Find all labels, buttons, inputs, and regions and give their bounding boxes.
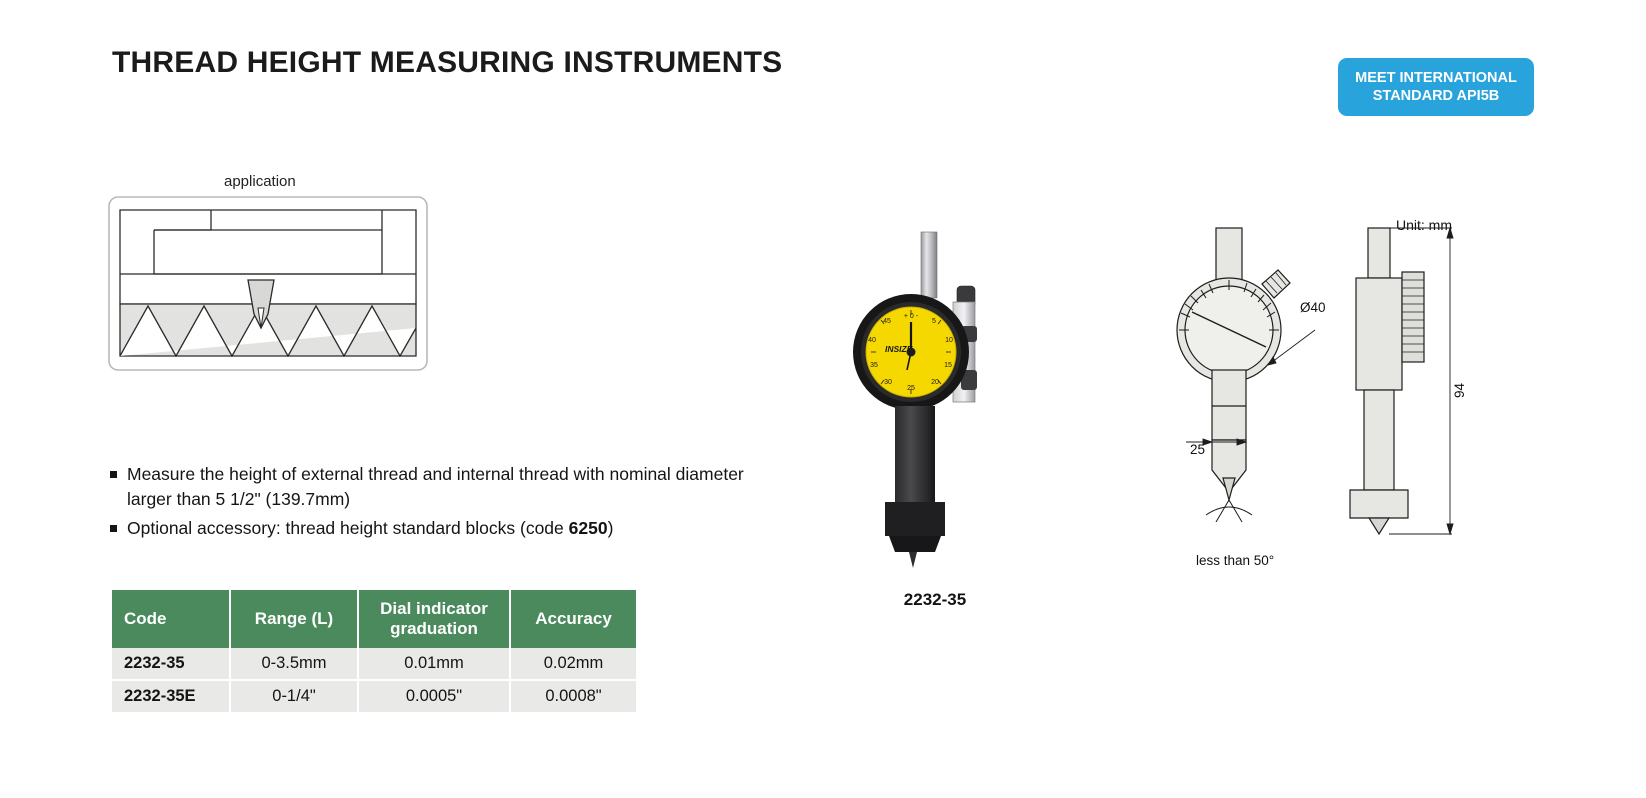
specification-table: Code Range (L) Dial indicator graduation…	[112, 590, 636, 712]
cell-range: 0-3.5mm	[230, 648, 358, 680]
square-bullet-icon	[110, 525, 117, 532]
column-header-graduation: Dial indicator graduation	[358, 590, 510, 648]
table-row: 2232-35E 0-1/4" 0.0005" 0.0008"	[112, 680, 636, 712]
svg-text:35: 35	[870, 362, 878, 369]
svg-text:30: 30	[884, 379, 892, 386]
technical-drawing	[1150, 210, 1490, 580]
cell-code: 2232-35E	[112, 680, 230, 712]
list-item: Optional accessory: thread height standa…	[110, 516, 750, 541]
cell-range: 0-1/4"	[230, 680, 358, 712]
feature-text-2-tail: )	[608, 518, 614, 538]
table-header-row: Code Range (L) Dial indicator graduation…	[112, 590, 636, 648]
dimension-length-25: 25	[1190, 442, 1205, 457]
dimension-diameter: Ø40	[1300, 300, 1326, 315]
badge-line-2: STANDARD API5B	[1373, 87, 1499, 105]
square-bullet-icon	[110, 471, 117, 478]
column-header-code: Code	[112, 590, 230, 648]
cell-accuracy: 0.02mm	[510, 648, 636, 680]
feature-list: Measure the height of external thread an…	[110, 462, 750, 545]
svg-text:45: 45	[883, 318, 891, 325]
svg-text:40: 40	[868, 337, 876, 344]
svg-text:15: 15	[944, 362, 952, 369]
feature-text-2-lead: Optional accessory: thread height standa…	[127, 518, 569, 538]
dimension-angle: less than 50°	[1196, 553, 1274, 568]
application-illustration	[108, 196, 428, 371]
column-header-range: Range (L)	[230, 590, 358, 648]
status-badge: MEET INTERNATIONAL STANDARD API5B	[1338, 58, 1534, 116]
cell-code: 2232-35	[112, 648, 230, 680]
list-item: Measure the height of external thread an…	[110, 462, 750, 512]
feature-text-2: Optional accessory: thread height standa…	[127, 516, 750, 541]
table-row: 2232-35 0-3.5mm 0.01mm 0.02mm	[112, 648, 636, 680]
column-header-accuracy: Accuracy	[510, 590, 636, 648]
product-photo: + 0 - 45 40 35 30 25 20 15 10 5 INSIZE	[845, 230, 1025, 575]
svg-text:5: 5	[932, 318, 936, 325]
dimension-height-94: 94	[1452, 383, 1467, 398]
accessory-code: 6250	[569, 518, 608, 538]
product-caption: 2232-35	[845, 590, 1025, 610]
cell-graduation: 0.01mm	[358, 648, 510, 680]
cell-graduation: 0.0005"	[358, 680, 510, 712]
catalog-page: THREAD HEIGHT MEASURING INSTRUMENTS MEET…	[0, 0, 1646, 798]
feature-text-1: Measure the height of external thread an…	[127, 462, 750, 512]
svg-text:10: 10	[945, 337, 953, 344]
application-caption: application	[224, 173, 296, 190]
svg-text:20: 20	[931, 379, 939, 386]
page-title: THREAD HEIGHT MEASURING INSTRUMENTS	[112, 46, 782, 80]
badge-line-1: MEET INTERNATIONAL	[1355, 69, 1517, 87]
cell-accuracy: 0.0008"	[510, 680, 636, 712]
